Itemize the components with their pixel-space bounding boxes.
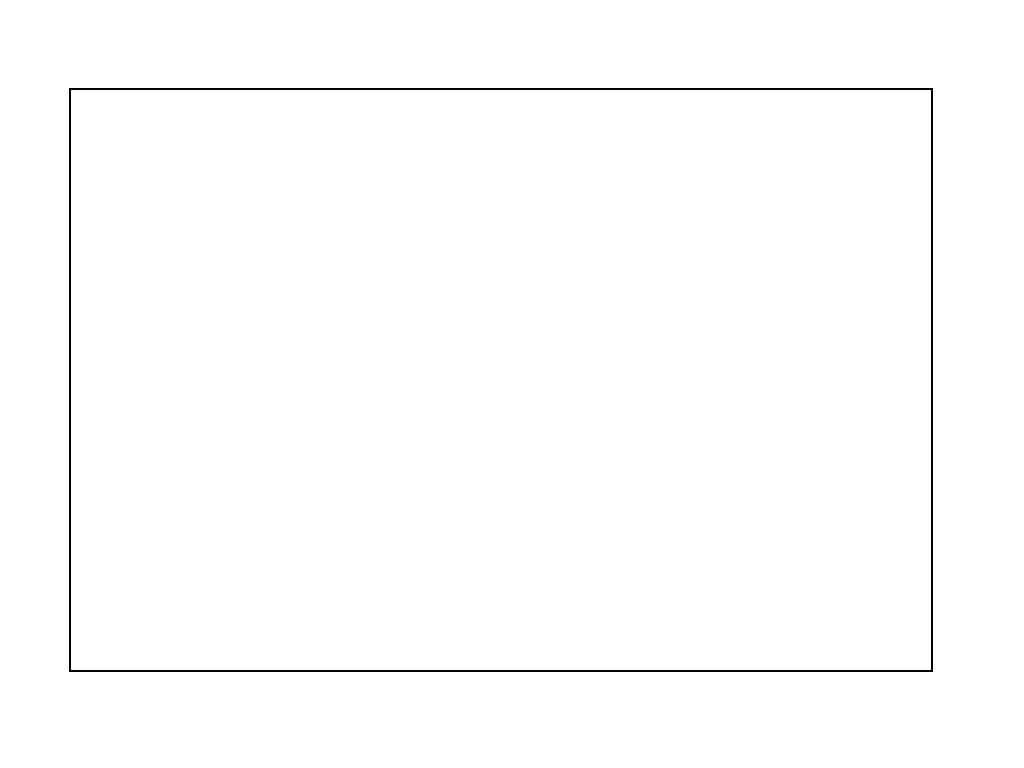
colorbar [945,298,969,472]
x-axis [0,0,1024,768]
colorbar-canvas [945,298,1015,498]
chart-page [0,0,1024,768]
